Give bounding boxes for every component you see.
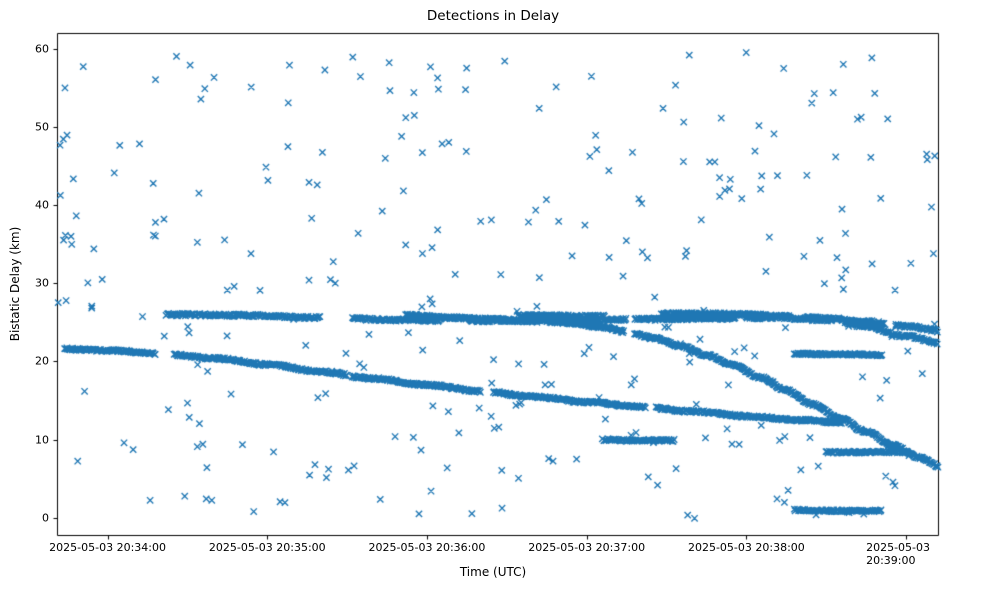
y-tick-label: 40 bbox=[5, 199, 49, 212]
x-tick-label: 2025-05-03 20:36:00 bbox=[369, 541, 486, 554]
x-tick-label: 2025-05-03 20:34:00 bbox=[49, 541, 166, 554]
y-tick-label: 30 bbox=[5, 277, 49, 290]
x-tick-label: 2025-05-03 20:35:00 bbox=[209, 541, 326, 554]
x-tick-label: 2025-05-03 20:38:00 bbox=[688, 541, 805, 554]
y-tick-label: 60 bbox=[5, 42, 49, 55]
y-tick-label: 10 bbox=[5, 433, 49, 446]
y-tick-label: 0 bbox=[5, 511, 49, 524]
matplotlib-figure: Detections in Delay Time (UTC) Bistatic … bbox=[0, 0, 986, 590]
scatter-plot-canvas bbox=[0, 0, 986, 590]
y-tick-label: 20 bbox=[5, 355, 49, 368]
x-tick-label: 2025-05-03 20:37:00 bbox=[528, 541, 645, 554]
x-tick-label: 2025-05-03 20:39:00 bbox=[866, 541, 946, 567]
y-tick-label: 50 bbox=[5, 120, 49, 133]
